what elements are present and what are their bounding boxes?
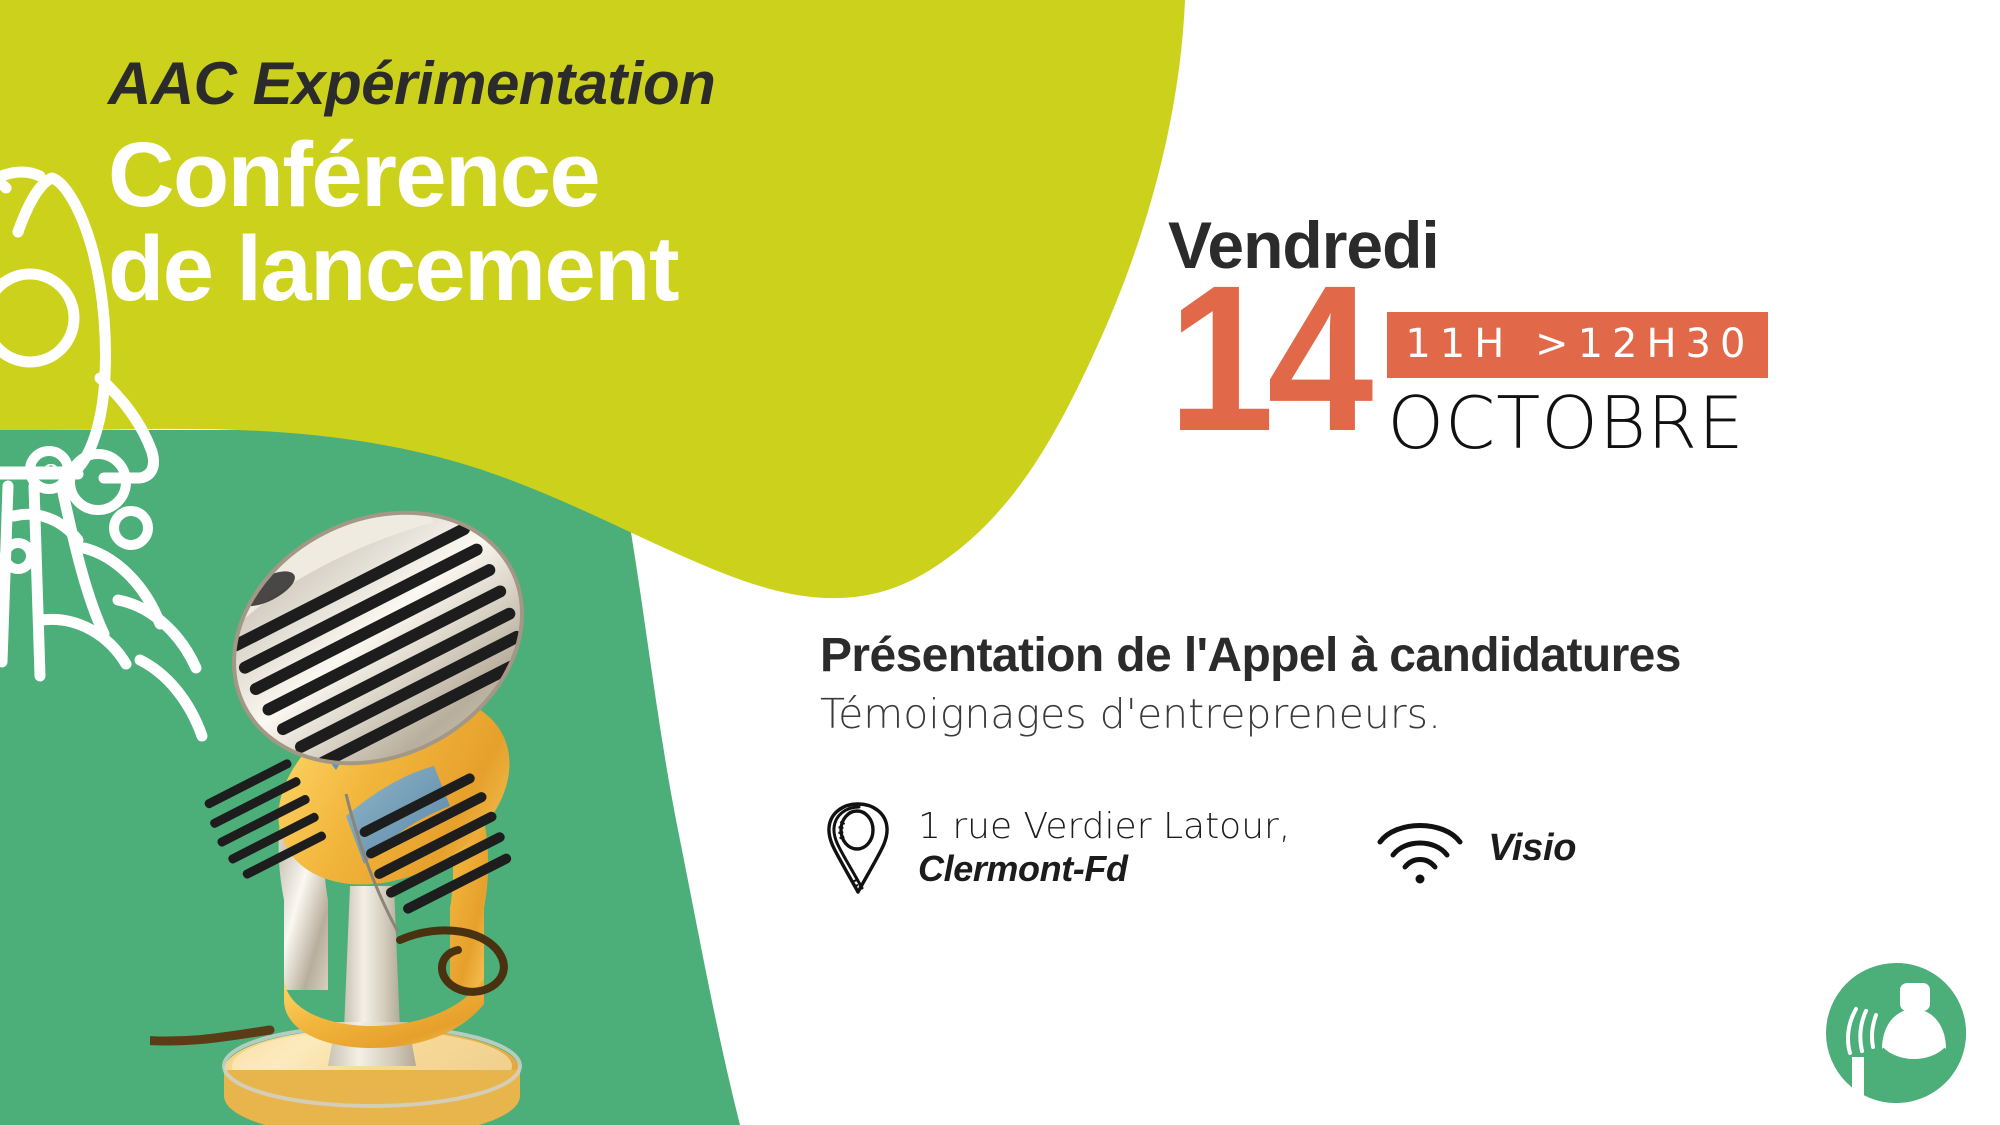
time-badge: 11H >12H30 <box>1387 312 1768 378</box>
title-line-1: Conférence <box>108 129 938 223</box>
page-title: Conférence de lancement <box>108 129 938 317</box>
title-line-2: de lancement <box>108 223 938 317</box>
description-subtitle: Témoignages d'entrepreneurs. <box>820 691 1940 738</box>
remote-info: Visio <box>1374 810 1576 886</box>
description-title: Présentation de l'Appel à candidatures <box>820 630 1940 683</box>
visio-label: Visio <box>1488 827 1576 870</box>
month-label: OCTOBRE <box>1387 386 1768 462</box>
poster-kicker: AAC Expérimentation <box>108 52 938 115</box>
map-pin-icon <box>820 800 896 896</box>
info-row: 1 rue Verdier Latour, Clermont-Fd Visio <box>820 800 1576 896</box>
venue-street: 1 rue Verdier Latour, <box>918 806 1290 848</box>
retro-microphone-image <box>150 470 610 1125</box>
megaphone-logo-icon <box>1820 957 1972 1109</box>
headline-block: AAC Expérimentation Conférence de lancem… <box>108 52 938 317</box>
date-right-column: 11H >12H30 OCTOBRE <box>1387 280 1768 462</box>
venue-city: Clermont-Fd <box>918 848 1290 890</box>
event-poster: AAC Expérimentation Conférence de lancem… <box>0 0 2000 1125</box>
venue-info: 1 rue Verdier Latour, Clermont-Fd <box>820 800 1290 896</box>
day-number: 14 <box>1168 280 1366 438</box>
date-block: Vendredi 14 11H >12H30 OCTOBRE <box>1168 212 1768 462</box>
wifi-icon <box>1374 810 1466 886</box>
description-block: Présentation de l'Appel à candidatures T… <box>820 630 1940 738</box>
date-row: 14 11H >12H30 OCTOBRE <box>1168 280 1768 462</box>
venue-text: 1 rue Verdier Latour, Clermont-Fd <box>918 806 1290 891</box>
